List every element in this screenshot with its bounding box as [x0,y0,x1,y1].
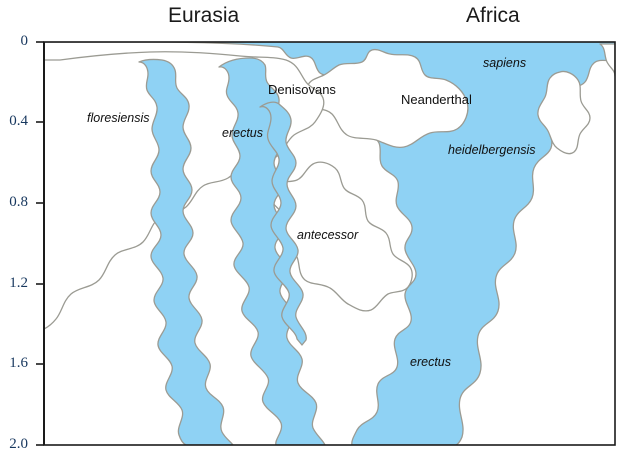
y-tick-label-1-2: 1.2 [0,275,28,292]
y-tick-label-0-4: 0.4 [0,113,28,130]
label-denisovans: Denisovans [268,82,336,97]
y-tick-label-1-6: 1.6 [0,355,28,372]
label-erectus-eurasia: erectus [222,126,263,140]
label-erectus-africa: erectus [410,355,451,369]
y-tick-label-0-8: 0.8 [0,194,28,211]
evolution-stream-chart: Eurasia Africa [0,0,633,468]
label-floresiensis: floresiensis [87,111,150,125]
label-neanderthal: Neanderthal [401,92,472,107]
y-tick-label-2-0: 2.0 [0,436,28,453]
y-tick-label-0: 0 [0,33,28,50]
label-antecessor: antecessor [297,228,358,242]
label-heidelbergensis: heidelbergensis [448,143,536,157]
label-sapiens: sapiens [483,56,526,70]
y-axis-ticks [36,42,44,445]
